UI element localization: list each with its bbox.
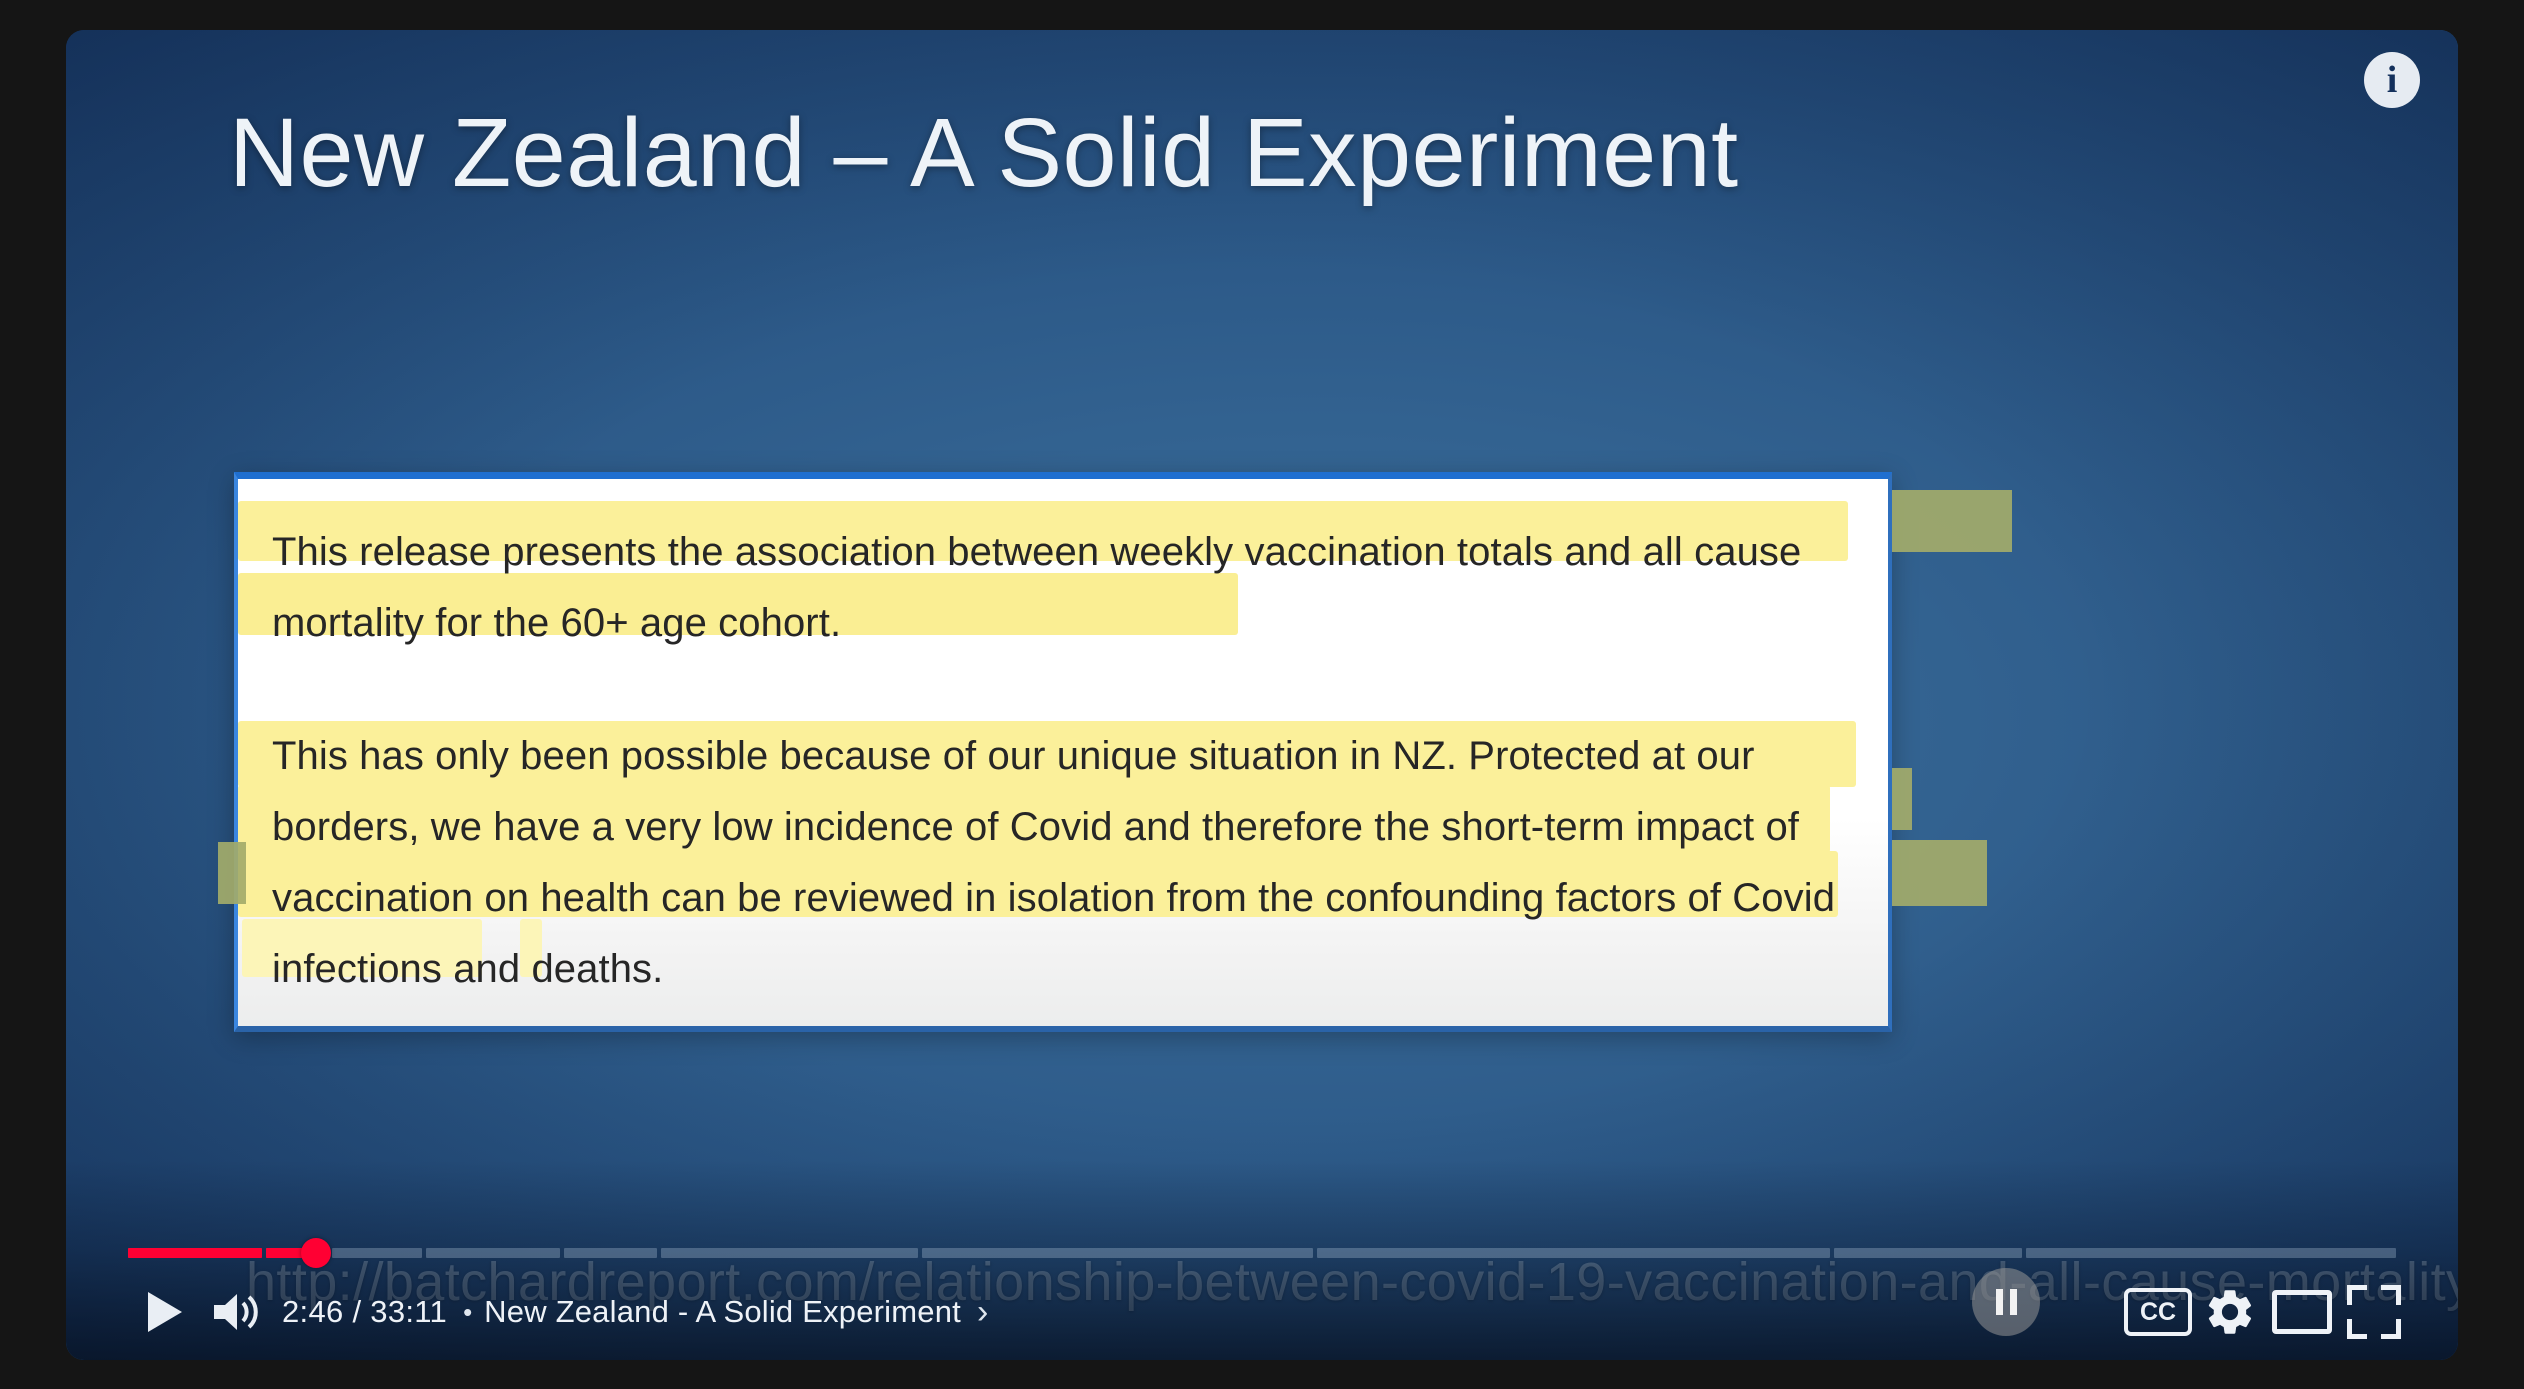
olive-block-left bbox=[218, 842, 246, 904]
play-icon bbox=[144, 1290, 184, 1334]
progress-segment[interactable] bbox=[564, 1248, 658, 1258]
olive-block-right-middle bbox=[1892, 768, 1912, 830]
settings-button[interactable] bbox=[2194, 1264, 2266, 1360]
progress-segment[interactable] bbox=[922, 1248, 1313, 1258]
volume-icon bbox=[212, 1290, 260, 1334]
miniplayer-icon bbox=[2272, 1290, 2332, 1334]
fullscreen-icon bbox=[2347, 1285, 2401, 1339]
captions-button[interactable]: CC bbox=[2122, 1264, 2194, 1360]
gear-icon bbox=[2203, 1285, 2257, 1339]
miniplayer-button[interactable] bbox=[2266, 1264, 2338, 1360]
progress-segment[interactable] bbox=[2026, 1248, 2397, 1258]
volume-button[interactable] bbox=[200, 1264, 272, 1360]
progress-track[interactable] bbox=[128, 1248, 2396, 1258]
progress-segment[interactable] bbox=[128, 1248, 262, 1258]
chevron-right-icon[interactable]: › bbox=[977, 1293, 988, 1332]
pause-overlay-button[interactable] bbox=[1972, 1268, 2040, 1336]
info-glyph: i bbox=[2387, 61, 2398, 99]
progress-segment[interactable] bbox=[661, 1248, 918, 1258]
progress-segment[interactable] bbox=[1317, 1248, 1830, 1258]
progress-bar[interactable] bbox=[128, 1248, 2396, 1258]
slide-paragraph-2: This has only been possible because of o… bbox=[272, 721, 1854, 1005]
slide-title: New Zealand – A Solid Experiment bbox=[229, 102, 1739, 204]
olive-block-right-bottom bbox=[1892, 840, 1987, 906]
progress-fill bbox=[266, 1248, 302, 1258]
chapter-title[interactable]: New Zealand - A Solid Experiment bbox=[484, 1294, 961, 1330]
chapter-separator: • bbox=[463, 1297, 472, 1328]
slide-paragraph-1: This release presents the association be… bbox=[272, 517, 1854, 659]
slide-content-card: This release presents the association be… bbox=[234, 472, 1892, 1032]
pause-icon bbox=[1996, 1289, 2017, 1315]
progress-segment[interactable] bbox=[332, 1248, 421, 1258]
time-display: 2:46 / 33:11 bbox=[282, 1294, 447, 1330]
progress-segment[interactable] bbox=[1834, 1248, 2021, 1258]
player-control-bar: 2:46 / 33:11 • New Zealand - A Solid Exp… bbox=[66, 1160, 2458, 1360]
progress-segment[interactable] bbox=[426, 1248, 560, 1258]
video-player[interactable]: New Zealand – A Solid Experiment This re… bbox=[66, 30, 2458, 1360]
cc-label: CC bbox=[2124, 1288, 2192, 1336]
olive-block-right-top bbox=[1892, 490, 2012, 552]
play-button[interactable] bbox=[128, 1264, 200, 1360]
fullscreen-button[interactable] bbox=[2338, 1264, 2410, 1360]
controls-row: 2:46 / 33:11 • New Zealand - A Solid Exp… bbox=[66, 1264, 2458, 1360]
progress-fill bbox=[128, 1248, 262, 1258]
info-icon[interactable]: i bbox=[2364, 52, 2420, 108]
